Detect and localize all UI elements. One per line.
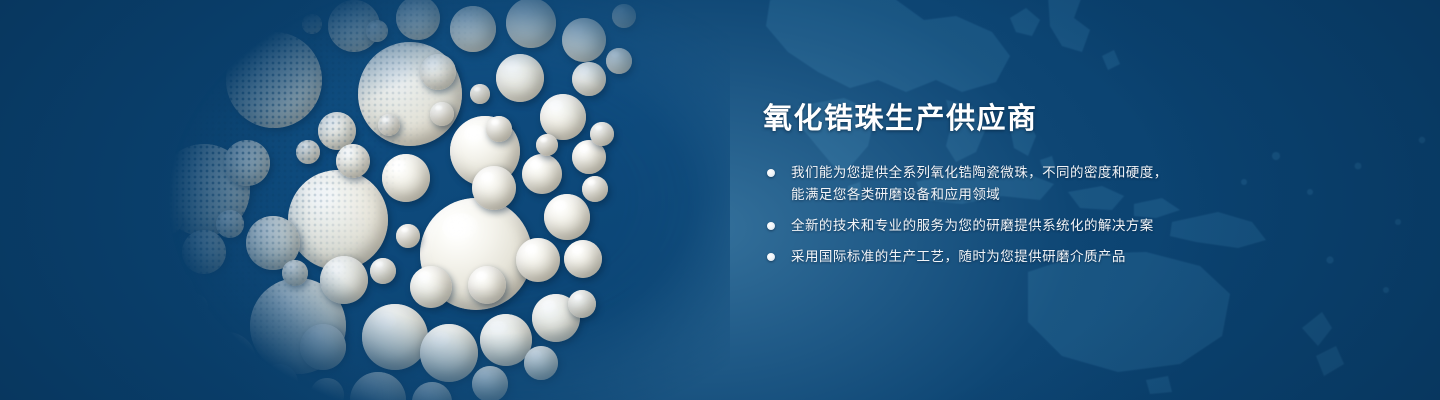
banner-copy: 氧化锆珠生产供应商 我们能为您提供全系列氧化锆陶瓷微珠，不同的密度和硬度， 能满… bbox=[763, 104, 1383, 268]
dot-bullet-icon bbox=[767, 222, 775, 230]
page-title: 氧化锆珠生产供应商 bbox=[763, 104, 1383, 136]
dot-bullet-icon bbox=[767, 169, 775, 177]
list-item: 采用国际标准的生产工艺，随时为您提供研磨介质产品 bbox=[763, 246, 1383, 268]
list-item: 全新的技术和专业的服务为您的研磨提供系统化的解决方案 bbox=[763, 215, 1383, 237]
list-item: 我们能为您提供全系列氧化锆陶瓷微珠，不同的密度和硬度， 能满足您各类研磨设备和应… bbox=[763, 162, 1383, 206]
dot-bullet-icon bbox=[767, 253, 775, 261]
bullet-text-line: 我们能为您提供全系列氧化锆陶瓷微珠，不同的密度和硬度， bbox=[791, 162, 1383, 184]
bullet-text-line: 能满足您各类研磨设备和应用领域 bbox=[791, 184, 1383, 206]
bullet-text-line: 采用国际标准的生产工艺，随时为您提供研磨介质产品 bbox=[791, 246, 1383, 268]
feature-bullet-list: 我们能为您提供全系列氧化锆陶瓷微珠，不同的密度和硬度， 能满足您各类研磨设备和应… bbox=[763, 162, 1383, 268]
hero-banner: 氧化锆珠生产供应商 我们能为您提供全系列氧化锆陶瓷微珠，不同的密度和硬度， 能满… bbox=[0, 0, 1440, 400]
bullet-text-line: 全新的技术和专业的服务为您的研磨提供系统化的解决方案 bbox=[791, 215, 1383, 237]
